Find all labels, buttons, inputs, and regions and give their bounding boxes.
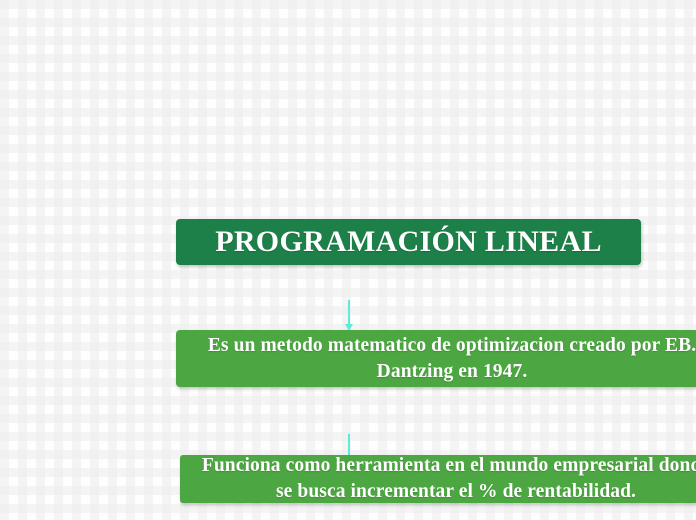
connector-root-to-definition-arrow-icon [348,300,350,330]
mindmap-node-definition[interactable]: Es un metodo matematico de optimizacion … [176,330,696,387]
mindmap-root-node[interactable]: PROGRAMACIÓN LINEAL [176,219,641,265]
mindmap-root-label: PROGRAMACIÓN LINEAL [190,225,627,259]
mindmap-node-definition-label: Es un metodo matematico de optimizacion … [184,333,696,385]
mindmap-node-usage-label: Funciona como herramienta en el mundo em… [192,453,696,505]
mindmap-node-usage[interactable]: Funciona como herramienta en el mundo em… [180,455,696,503]
mindmap-canvas: PROGRAMACIÓN LINEAL Es un metodo matemat… [0,0,696,520]
